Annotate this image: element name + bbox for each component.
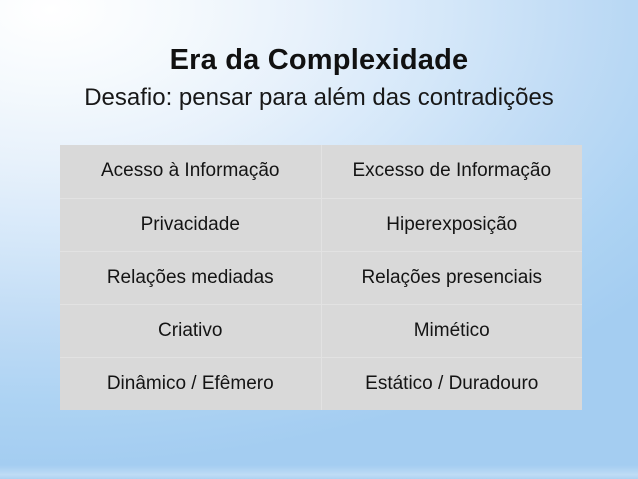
table-cell-left: Criativo — [60, 304, 321, 357]
table-cell-left: Relações mediadas — [60, 251, 321, 304]
table-row: Privacidade Hiperexposição — [60, 198, 582, 251]
bottom-light-band — [0, 465, 638, 479]
table-row: Acesso à Informação Excesso de Informaçã… — [60, 145, 582, 198]
table-cell-left: Privacidade — [60, 198, 321, 251]
slide-canvas: Era da Complexidade Desafio: pensar para… — [0, 0, 638, 479]
table-row: Criativo Mimético — [60, 304, 582, 357]
table-cell-left: Dinâmico / Efêmero — [60, 357, 321, 410]
table-cell-right: Excesso de Informação — [321, 145, 582, 198]
table-cell-right: Mimético — [321, 304, 582, 357]
slide-subtitle: Desafio: pensar para além das contradiçõ… — [0, 84, 638, 112]
table-body: Acesso à Informação Excesso de Informaçã… — [60, 145, 582, 410]
table-row: Dinâmico / Efêmero Estático / Duradouro — [60, 357, 582, 410]
comparison-table: Acesso à Informação Excesso de Informaçã… — [60, 145, 582, 410]
table-cell-right: Hiperexposição — [321, 198, 582, 251]
table-cell-right: Relações presenciais — [321, 251, 582, 304]
table-row: Relações mediadas Relações presenciais — [60, 251, 582, 304]
slide-title: Era da Complexidade — [0, 44, 638, 77]
table-cell-right: Estático / Duradouro — [321, 357, 582, 410]
table-cell-left: Acesso à Informação — [60, 145, 321, 198]
